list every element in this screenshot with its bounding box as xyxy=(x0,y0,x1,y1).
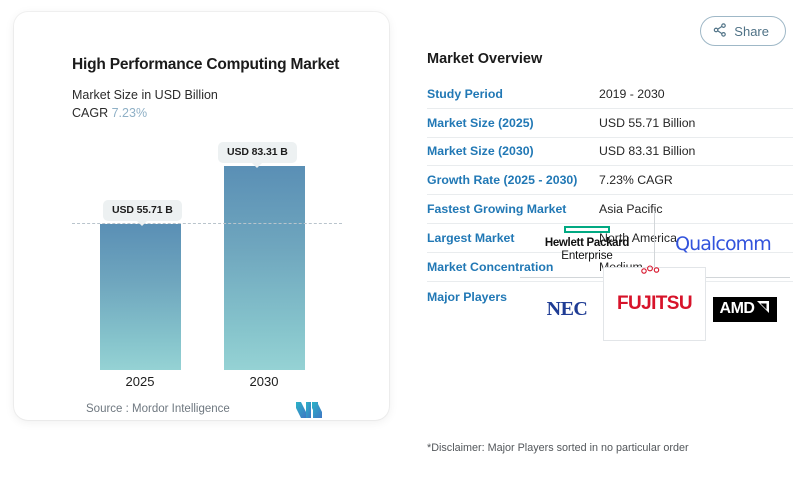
x-axis-tick-2030: 2030 xyxy=(209,374,319,389)
row-value: 2019 - 2030 xyxy=(599,87,665,101)
screenshot-root: High Performance Computing Market Market… xyxy=(0,0,800,482)
row-key: Market Size (2030) xyxy=(427,144,599,158)
qualcomm-logo-text: Qualcomm xyxy=(675,233,771,255)
row-value: USD 55.71 Billion xyxy=(599,116,695,130)
table-row: Market Size (2025) USD 55.71 Billion xyxy=(427,109,793,138)
bar-2025[interactable] xyxy=(100,224,181,370)
fujitsu-dots-icon xyxy=(640,261,662,279)
fujitsu-logo-text: FUJITSU xyxy=(617,293,692,315)
row-key: Growth Rate (2025 - 2030) xyxy=(427,173,599,187)
row-key: Market Size (2025) xyxy=(427,116,599,130)
disclaimer-text: *Disclaimer: Major Players sorted in no … xyxy=(427,442,689,454)
bar-label-2025: USD 55.71 B xyxy=(103,200,182,221)
row-key: Study Period xyxy=(427,87,599,101)
bar-label-2030: USD 83.31 B xyxy=(218,142,297,163)
bar-2030[interactable] xyxy=(224,166,305,370)
row-value: USD 83.31 Billion xyxy=(599,144,695,158)
table-row: Market Size (2030) USD 83.31 Billion xyxy=(427,138,793,167)
chart-card: High Performance Computing Market Market… xyxy=(14,12,389,420)
amd-arrow-icon xyxy=(756,300,770,319)
logo-cell-amd: AMD xyxy=(692,277,798,341)
market-overview-panel: Market Overview Study Period 2019 - 2030… xyxy=(420,0,800,482)
row-value: 7.23% CAGR xyxy=(599,173,673,187)
bar-chart-plot: USD 55.71 B USD 83.31 B 2025 2030 xyxy=(14,12,389,420)
panel-title: Market Overview xyxy=(427,51,542,67)
reference-dashed-line xyxy=(72,223,342,224)
chart-source: Source : Mordor Intelligence xyxy=(86,403,230,415)
major-players-grid: Hewlett Packard Enterprise Qualcomm NEC … xyxy=(520,211,790,341)
table-row: Growth Rate (2025 - 2030) 7.23% CAGR xyxy=(427,166,793,195)
table-row: Study Period 2019 - 2030 xyxy=(427,80,793,109)
hpe-line1: Hewlett Packard xyxy=(545,237,629,249)
x-axis-tick-2025: 2025 xyxy=(85,374,195,389)
mordor-intelligence-logo xyxy=(295,399,323,424)
hpe-line2: Enterprise xyxy=(545,250,629,262)
hpe-logo-icon xyxy=(564,226,610,233)
logo-cell-fujitsu: FUJITSU xyxy=(603,267,706,341)
nec-logo-text: NEC xyxy=(547,298,588,321)
amd-logo-text: AMD xyxy=(720,300,755,318)
